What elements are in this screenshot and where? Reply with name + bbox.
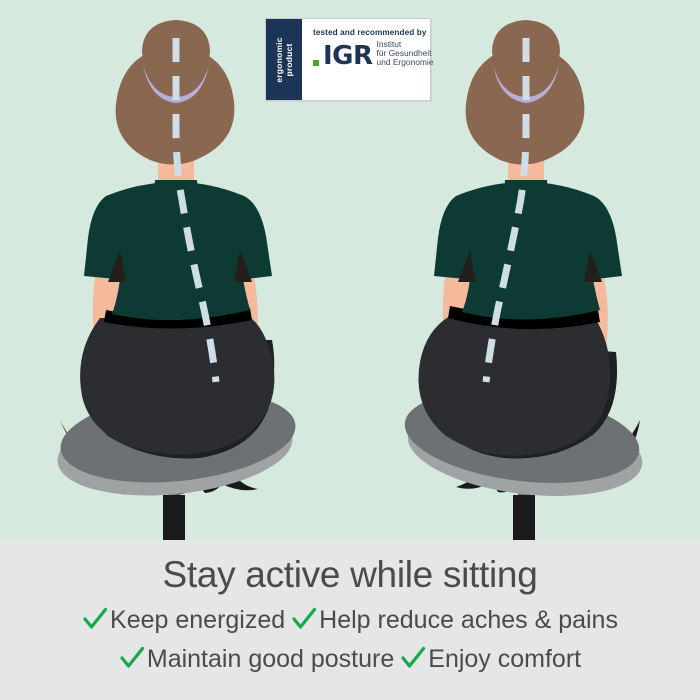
- badge-tagline: tested and recommended by: [313, 28, 433, 37]
- igr-certification-badge: ergonomic product tested and recommended…: [265, 18, 431, 101]
- badge-logo-text: IGR: [323, 44, 373, 69]
- benefit-row-2: Maintain good posture Enjoy comfort: [0, 641, 700, 676]
- badge-logo-row: IGR Institut für Gesundheit und Ergonomi…: [313, 40, 433, 69]
- check-icon: [291, 606, 317, 632]
- badge-vertical-line2: product: [284, 43, 294, 76]
- poster: ergonomic product tested and recommended…: [0, 0, 700, 700]
- badge-green-square-icon: [313, 60, 319, 66]
- collar: [503, 180, 549, 206]
- check-icon: [119, 645, 145, 671]
- benefit-row-1: Keep energized Help reduce aches & pains: [0, 602, 700, 637]
- badge-institute-line3: und Ergonomie: [377, 57, 434, 67]
- badge-vertical-panel: ergonomic product: [266, 19, 302, 100]
- badge-vertical-line1: ergonomic: [274, 37, 284, 82]
- page-title: Stay active while sitting: [0, 540, 700, 598]
- badge-vertical-label: ergonomic product: [274, 21, 294, 99]
- chair-pole-base: [513, 495, 535, 540]
- caption-panel: Stay active while sitting Keep energized…: [0, 540, 700, 700]
- benefit-item: Maintain good posture: [116, 641, 397, 676]
- benefit-label: Maintain good posture: [147, 642, 394, 676]
- benefit-label: Help reduce aches & pains: [319, 603, 618, 637]
- benefit-item: Enjoy comfort: [397, 641, 584, 676]
- benefit-item: Keep energized: [79, 602, 288, 637]
- benefit-item: Help reduce aches & pains: [288, 602, 621, 637]
- illustration-scene: ergonomic product tested and recommended…: [0, 0, 700, 540]
- chair-pole-base: [163, 495, 185, 540]
- badge-institute-name: Institut für Gesundheit und Ergonomie: [377, 40, 434, 69]
- pants: [418, 316, 610, 456]
- benefit-label: Enjoy comfort: [428, 642, 581, 676]
- benefit-label: Keep energized: [110, 603, 285, 637]
- badge-content: tested and recommended by IGR Institut f…: [302, 19, 440, 100]
- pants: [80, 316, 274, 455]
- check-icon: [400, 645, 426, 671]
- collar: [153, 180, 199, 206]
- check-icon: [82, 606, 108, 632]
